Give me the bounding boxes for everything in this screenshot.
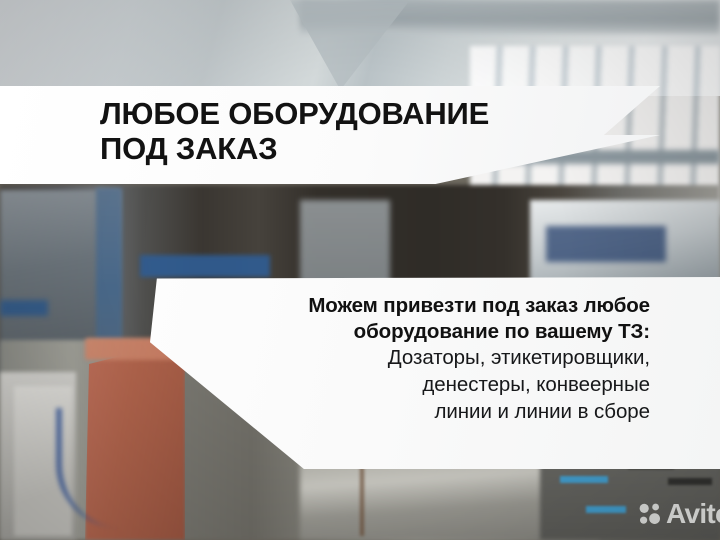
avito-watermark: Avito <box>639 500 720 528</box>
info-body-text: Дозаторы, этикетировщики, денестеры, кон… <box>178 344 650 425</box>
avito-dots-icon <box>639 503 662 526</box>
banner-image: ЛЮБОЕ ОБОРУДОВАНИЕ ПОД ЗАКАЗ Можем приве… <box>0 0 720 540</box>
info-lead-text: Можем привезти под заказ любое оборудова… <box>178 293 650 344</box>
avito-wordmark: Avito <box>666 500 720 528</box>
headline-title: ЛЮБОЕ ОБОРУДОВАНИЕ ПОД ЗАКАЗ <box>100 96 640 166</box>
info-panel-text: Можем привезти под заказ любое оборудова… <box>178 293 650 425</box>
